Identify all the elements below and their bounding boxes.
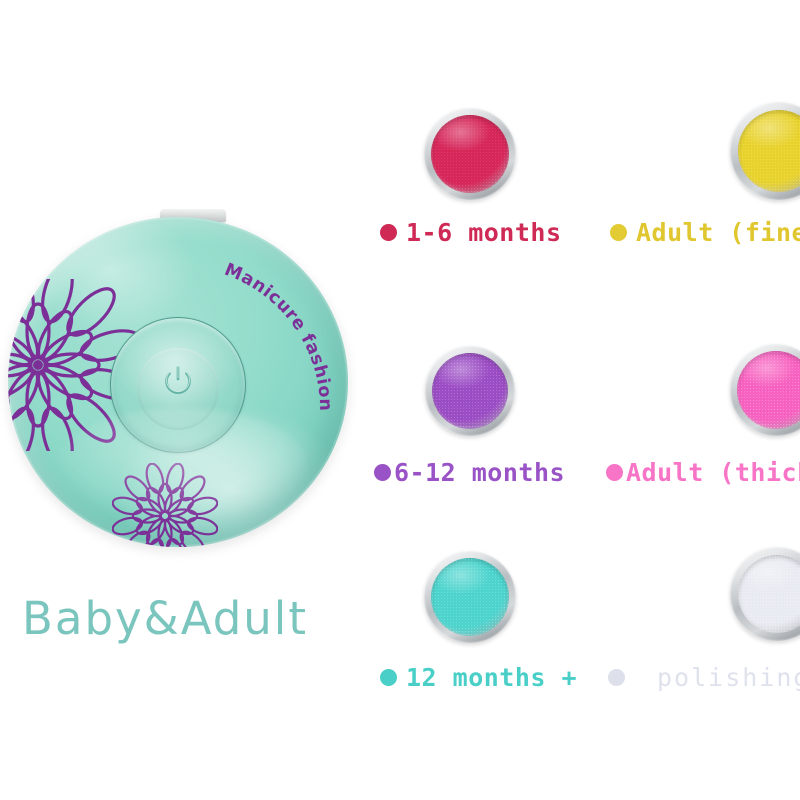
attachment-label-text: 12 months + xyxy=(406,663,577,692)
attachment-grid: 1-6 months Adult (fine) xyxy=(352,100,800,720)
crimson-disc[interactable] xyxy=(424,108,516,200)
disc-sanding-face xyxy=(432,353,508,429)
yellow-disc[interactable] xyxy=(730,102,800,200)
disc-shine xyxy=(431,115,509,193)
legend-bullet-turquoise xyxy=(380,669,397,686)
pink-disc[interactable] xyxy=(730,344,800,436)
legend-bullet-pink xyxy=(606,464,623,481)
attachment-item-polishing[interactable]: polishing xyxy=(610,545,800,715)
attachment-label-text: polishing xyxy=(657,663,800,692)
attachment-label-turquoise: 12 months + xyxy=(380,663,577,692)
disc-shine xyxy=(431,558,509,636)
attachment-label-text: Adult (thick) xyxy=(626,458,800,487)
product-image-canvas: Manicure fashion Baby&Adult 1-6 months xyxy=(0,0,800,800)
disc-sanding-face xyxy=(431,115,509,193)
attachment-item-crimson[interactable]: 1-6 months xyxy=(380,100,560,270)
attachment-item-turquoise[interactable]: 12 months + xyxy=(380,545,560,715)
attachment-label-text: Adult (fine) xyxy=(636,218,800,247)
attachment-label-text: 1-6 months xyxy=(406,218,562,247)
power-icon xyxy=(161,364,195,398)
attachment-label-yellow: Adult (fine) xyxy=(610,218,800,247)
attachment-label-purple: 6-12 months xyxy=(374,458,565,487)
turquoise-disc[interactable] xyxy=(424,551,516,643)
polishing-disc[interactable] xyxy=(730,547,800,641)
legend-bullet-yellow xyxy=(610,224,627,241)
product-caption: Baby&Adult xyxy=(22,592,308,645)
purple-disc[interactable] xyxy=(425,346,515,436)
attachment-label-crimson: 1-6 months xyxy=(380,218,562,247)
attachment-label-text: 6-12 months xyxy=(394,458,565,487)
legend-bullet-purple xyxy=(374,464,391,481)
attachment-item-purple[interactable]: 6-12 months xyxy=(380,340,560,510)
device-body: Manicure fashion xyxy=(8,217,348,547)
attachment-label-polishing: polishing xyxy=(608,663,800,692)
attachment-item-pink[interactable]: Adult (thick) xyxy=(610,340,800,510)
attachment-item-yellow[interactable]: Adult (fine) xyxy=(610,100,800,270)
attachment-label-pink: Adult (thick) xyxy=(606,458,800,487)
legend-bullet-crimson xyxy=(380,224,397,241)
legend-bullet-polishing xyxy=(608,669,625,686)
nail-trimmer-device: Manicure fashion xyxy=(8,205,348,550)
device-gloss-highlight xyxy=(56,408,308,520)
disc-sanding-face xyxy=(431,558,509,636)
disc-shine xyxy=(432,353,508,429)
